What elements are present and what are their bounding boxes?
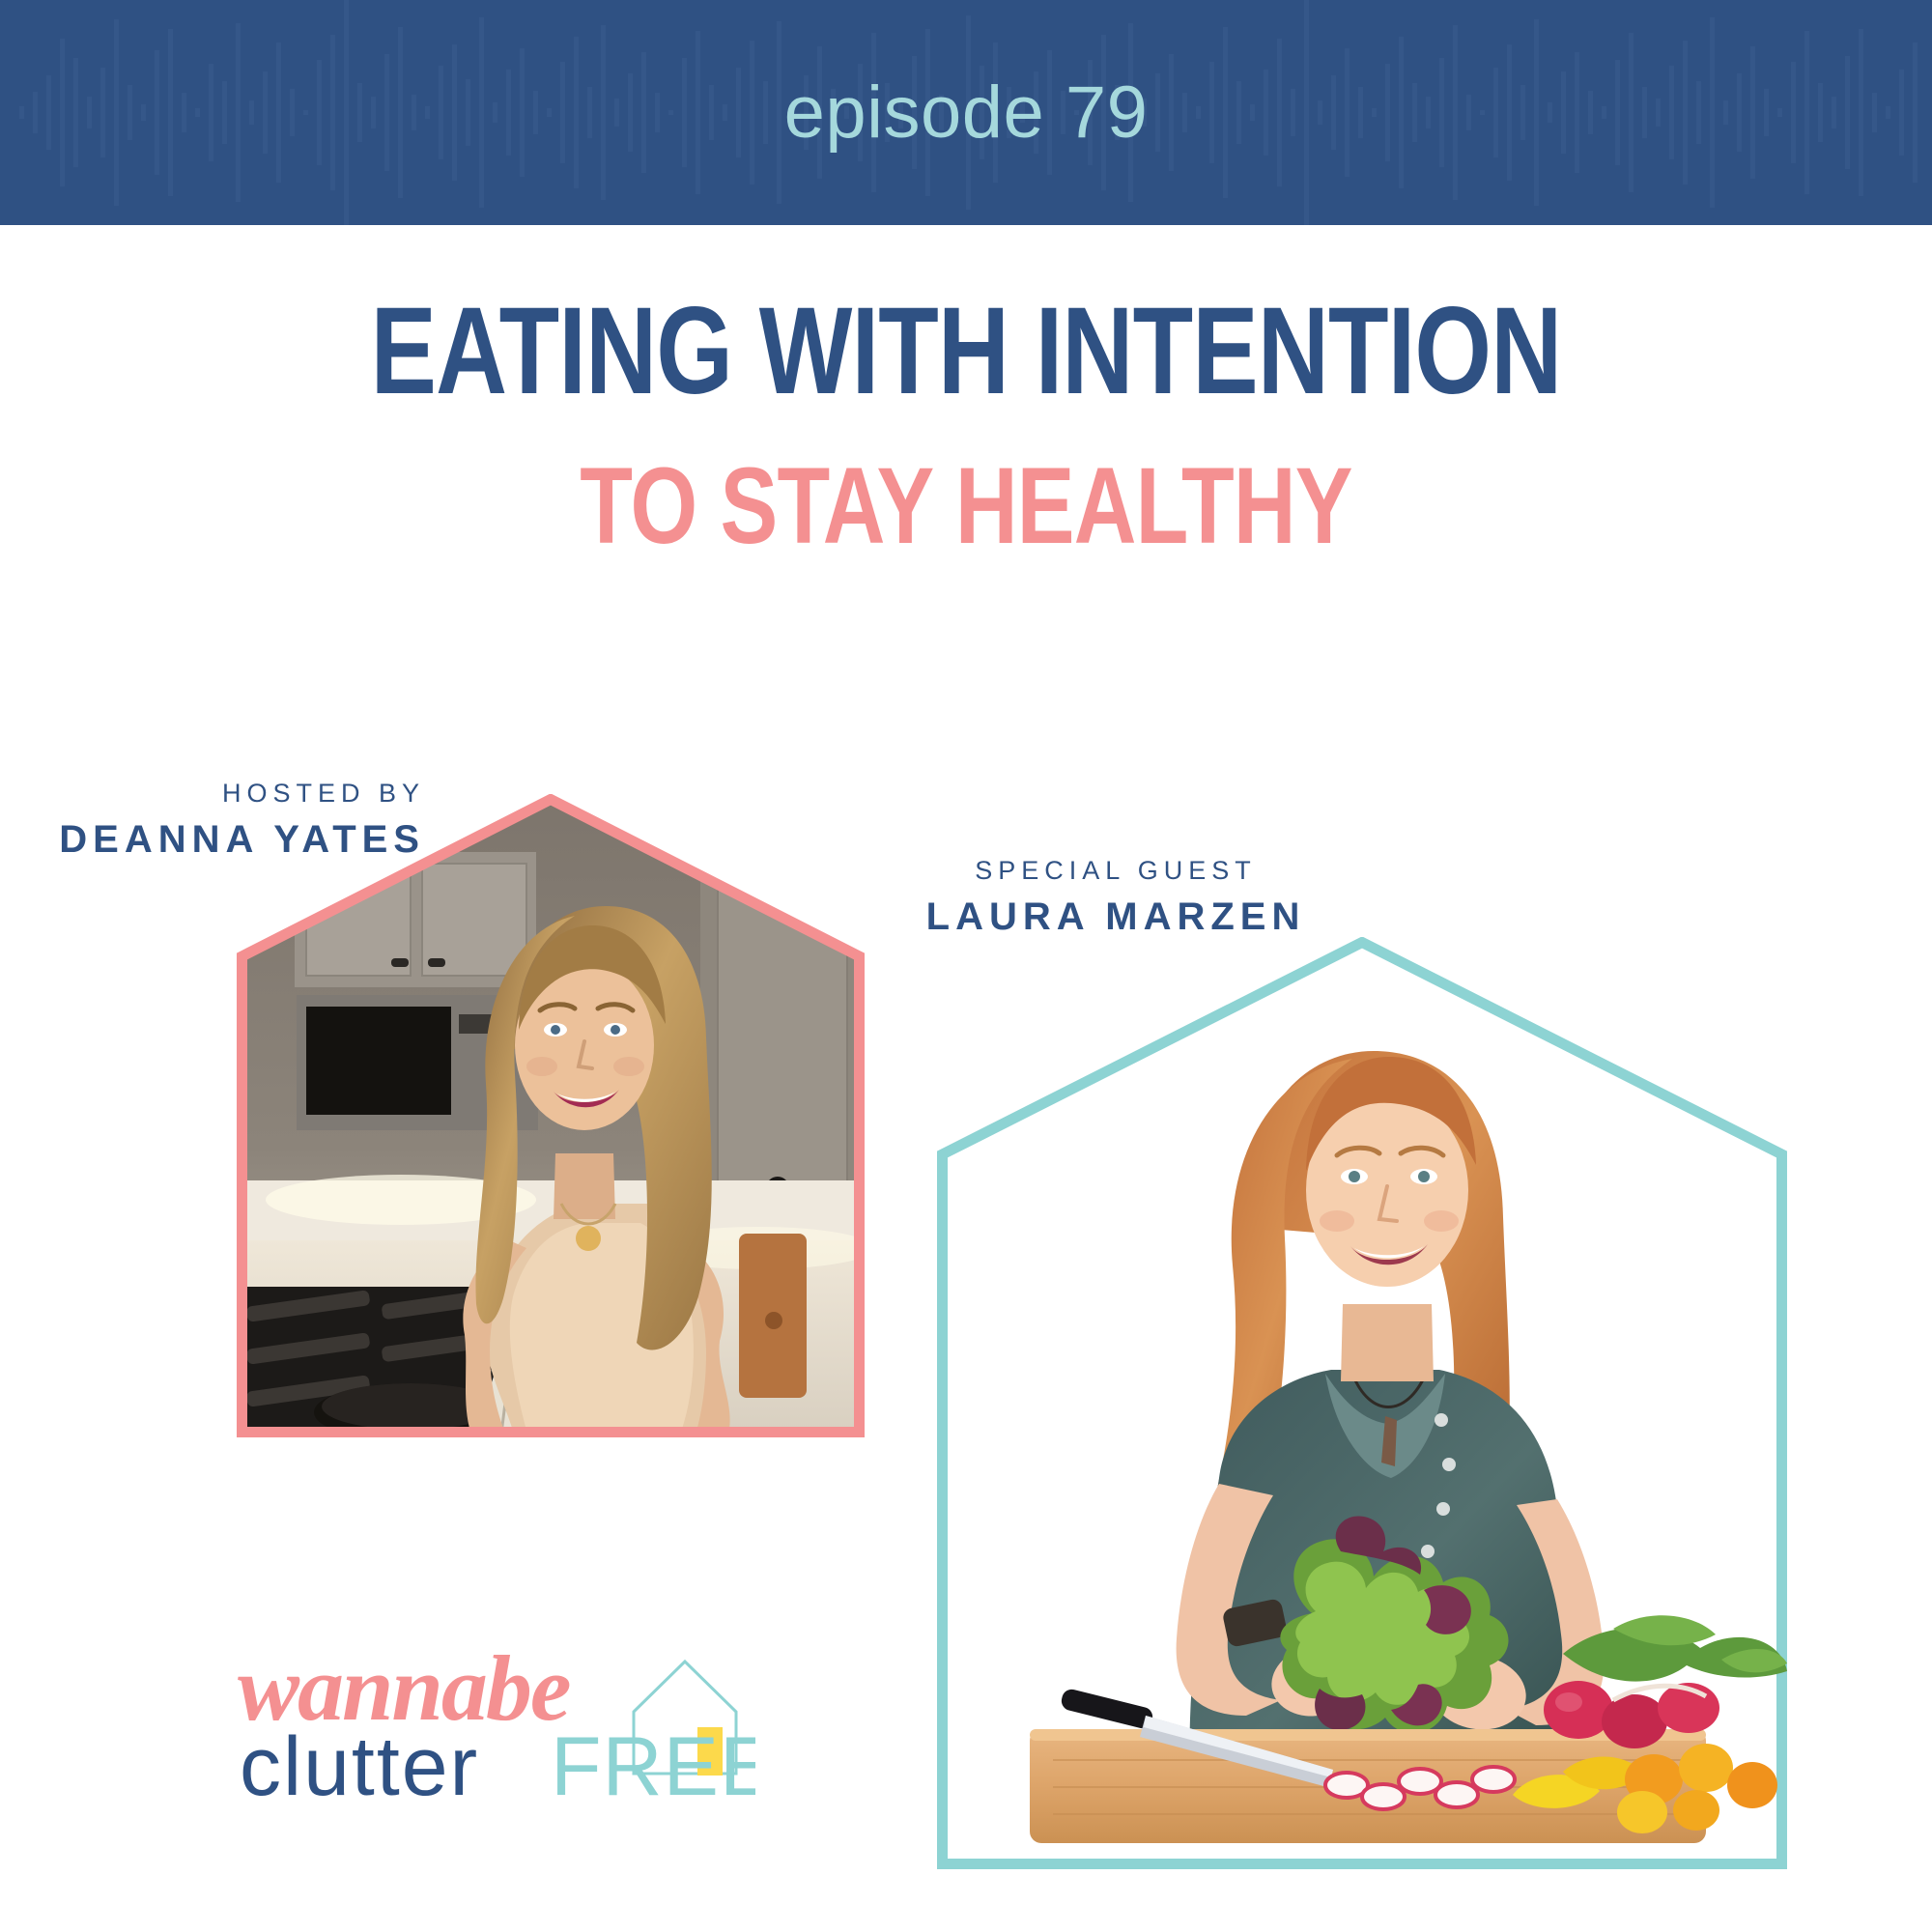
brand-logo[interactable]: wannabe clutter FREE xyxy=(214,1604,755,1845)
title-line-primary: EATING WITH INTENTION xyxy=(193,290,1739,413)
header-band: episode 79 xyxy=(0,0,1932,225)
logo-word-main: clutter xyxy=(240,1720,479,1813)
host-role-label: HOSTED BY xyxy=(39,778,425,810)
host-photo xyxy=(237,794,865,1437)
guest-photo-frame xyxy=(937,937,1787,1869)
episode-title: EATING WITH INTENTION TO STAY HEALTHY xyxy=(0,290,1932,560)
host-photo-frame xyxy=(237,794,865,1437)
title-line-secondary: TO STAY HEALTHY xyxy=(193,452,1739,560)
guest-name: LAURA MARZEN xyxy=(898,892,1333,942)
guest-photo xyxy=(1030,1051,1787,1843)
host-caption: HOSTED BY DEANNA YATES xyxy=(39,778,425,865)
episode-number-label: episode 79 xyxy=(0,0,1932,225)
guest-caption: SPECIAL GUEST LAURA MARZEN xyxy=(898,855,1333,942)
host-name: DEANNA YATES xyxy=(39,814,425,865)
guest-role-label: SPECIAL GUEST xyxy=(898,855,1333,888)
logo-word-accent: FREE xyxy=(551,1720,755,1813)
